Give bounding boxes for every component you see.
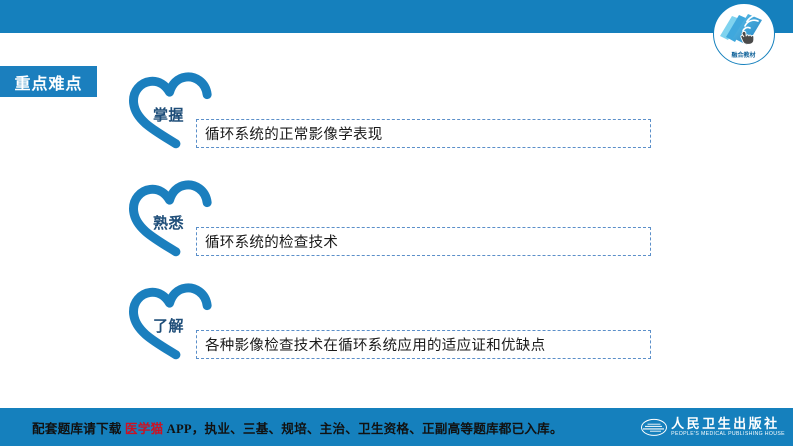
footer-lead: 配套题库请下载	[32, 422, 125, 436]
objective-text: 各种影像检查技术在循环系统应用的适应证和优缺点	[197, 334, 545, 355]
objective-text: 循环系统的正常影像学表现	[197, 123, 383, 144]
footer-bar: 配套题库请下载 医学猫 APP，执业、三基、规培、主治、卫生资格、正副高等题库都…	[0, 408, 793, 446]
badge-artwork-icon: 融合教材	[714, 4, 773, 63]
objective-text: 循环系统的检查技术	[197, 231, 338, 252]
publisher-name-en: PEOPLE'S MEDICAL PUBLISHING HOUSE	[671, 432, 785, 437]
footer-app-name: 医学猫	[125, 422, 163, 436]
objective-row: 熟悉 循环系统的检查技术	[0, 180, 793, 266]
footer-trail: APP，执业、三基、规培、主治、卫生资格、正副高等题库都已入库。	[163, 422, 562, 436]
integrated-textbook-badge: 融合教材	[713, 3, 775, 65]
objective-tag: 掌握	[153, 104, 184, 125]
objective-tag: 熟悉	[153, 212, 184, 233]
publisher-logo: 人民卫生出版社 PEOPLE'S MEDICAL PUBLISHING HOUS…	[641, 417, 785, 437]
badge-caption: 融合教材	[731, 51, 755, 59]
objective-row: 掌握 循环系统的正常影像学表现	[0, 72, 793, 158]
publisher-wordmark: 人民卫生出版社 PEOPLE'S MEDICAL PUBLISHING HOUS…	[671, 417, 785, 437]
publisher-mark-icon	[641, 418, 667, 435]
top-accent-bar	[0, 0, 793, 33]
objective-text-box: 各种影像检查技术在循环系统应用的适应证和优缺点	[196, 330, 651, 359]
publisher-name-cn: 人民卫生出版社	[671, 417, 785, 430]
objective-tag: 了解	[153, 315, 184, 336]
publisher-mark-glyph	[642, 419, 665, 433]
objective-row: 了解 各种影像检查技术在循环系统应用的适应证和优缺点	[0, 283, 793, 369]
objective-text-box: 循环系统的正常影像学表现	[196, 119, 651, 148]
slide-canvas: 融合教材 重点难点 掌握 循环系统的正常影像学表现 熟悉	[0, 0, 793, 446]
objective-text-box: 循环系统的检查技术	[196, 227, 651, 256]
footer-promo-text: 配套题库请下载 医学猫 APP，执业、三基、规培、主治、卫生资格、正副高等题库都…	[32, 418, 563, 437]
